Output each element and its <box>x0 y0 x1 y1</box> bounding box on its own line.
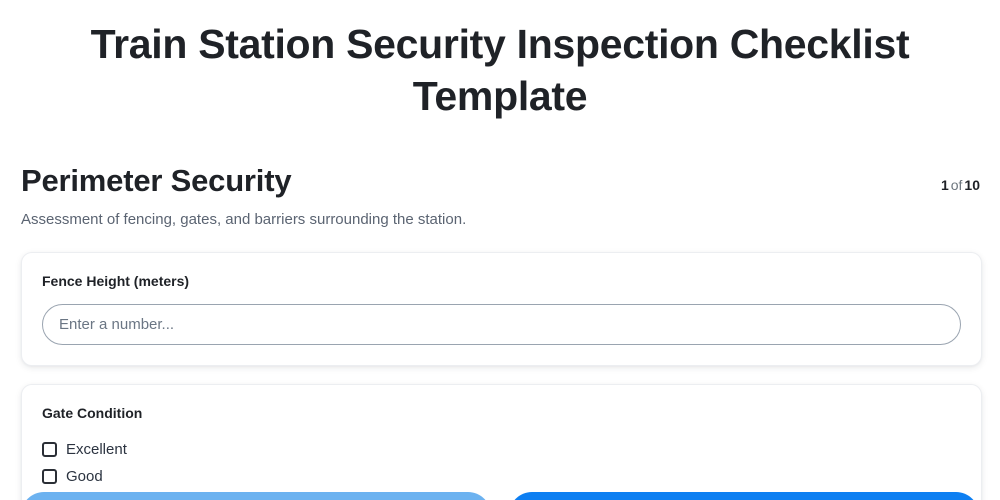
field-label-gate-condition: Gate Condition <box>42 404 961 422</box>
step-of-label: of <box>951 177 963 193</box>
previous-button[interactable]: Previous <box>21 492 491 500</box>
checklist-page: Train Station Security Inspection Checkl… <box>0 0 1000 500</box>
checkbox-option-good[interactable]: Good <box>42 463 961 490</box>
field-card-gate-condition: Gate Condition Excellent Good <box>21 384 982 500</box>
field-card-list: Fence Height (meters) Gate Condition Exc… <box>0 252 1000 500</box>
section-header: Perimeter Security 1of10 <box>0 163 1000 199</box>
checkbox-option-excellent[interactable]: Excellent <box>42 436 961 463</box>
fence-height-input[interactable] <box>42 304 961 345</box>
field-card-fence-height: Fence Height (meters) <box>21 252 982 366</box>
section-title: Perimeter Security <box>21 163 291 199</box>
gate-condition-options: Excellent Good <box>42 436 961 490</box>
navigation-bar: Previous Next <box>0 492 1000 500</box>
checkbox-label: Good <box>66 467 103 487</box>
page-title: Train Station Security Inspection Checkl… <box>40 18 960 122</box>
checkbox-icon[interactable] <box>42 442 57 457</box>
next-button[interactable]: Next <box>509 492 979 500</box>
field-label-fence-height: Fence Height (meters) <box>42 272 961 290</box>
app-header: Train Station Security Inspection Checkl… <box>0 0 1000 122</box>
step-total: 10 <box>964 177 980 193</box>
checkbox-label: Excellent <box>66 440 127 460</box>
step-current: 1 <box>941 177 949 193</box>
checkbox-icon[interactable] <box>42 469 57 484</box>
step-counter: 1of10 <box>941 175 980 199</box>
section-description: Assessment of fencing, gates, and barrie… <box>0 210 1000 230</box>
